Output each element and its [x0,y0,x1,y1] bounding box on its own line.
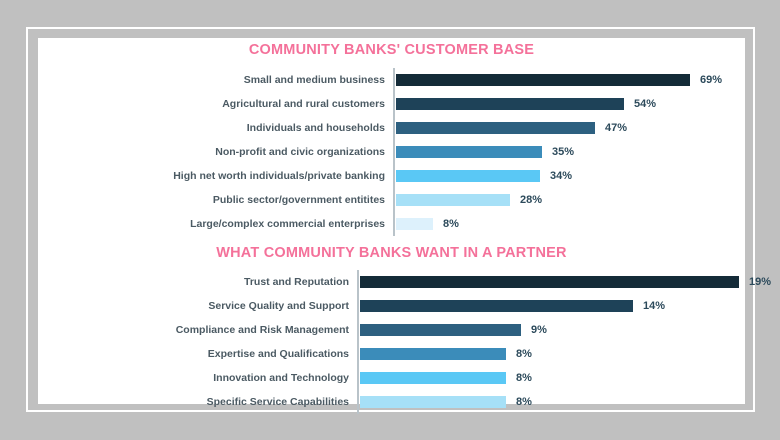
chart-2-bar [360,396,506,408]
chart-2-category-label: Specific Service Capabilities [38,396,357,408]
chart-1-value-label: 8% [443,218,459,230]
chart-2-value-label: 9% [531,324,547,336]
chart-1-bar [396,194,510,206]
chart-1-bar [396,122,595,134]
chart-1-bar [396,170,540,182]
chart-1-category-label: High net worth individuals/private banki… [38,170,393,182]
chart-1-bar [396,218,433,230]
chart-2-value-label: 8% [516,396,532,408]
chart-1-row: Individuals and households47% [38,116,745,140]
chart-1-bar [396,146,542,158]
chart-2-bar [360,276,739,288]
chart-2-bar [360,300,633,312]
chart-1-title: COMMUNITY BANKS' CUSTOMER BASE [38,42,745,58]
chart-1-row: Agricultural and rural customers54% [38,92,745,116]
chart-1-category-label: Public sector/government entitites [38,194,393,206]
chart-1-category-label: Agricultural and rural customers [38,98,393,110]
chart-2-bar [360,348,506,360]
chart-1-category-label: Small and medium business [38,74,393,86]
screenshot-stage: COMMUNITY BANKS' CUSTOMER BASE Small and… [0,0,780,440]
chart-1-value-label: 54% [634,98,656,110]
chart-2-category-label: Service Quality and Support [38,300,357,312]
chart-2-value-label: 14% [643,300,665,312]
chart-2-value-label: 8% [516,372,532,384]
chart-1-customer-base: Small and medium business69%Agricultural… [38,68,745,236]
chart-2-category-label: Compliance and Risk Management [38,324,357,336]
chart-1-value-label: 69% [700,74,722,86]
chart-2-partner-wants: Trust and Reputation19%Service Quality a… [38,270,745,414]
chart-2-bar [360,324,521,336]
chart-2-category-label: Expertise and Qualifications [38,348,357,360]
chart-2-row: Innovation and Technology8% [38,366,745,390]
chart-1-row: Non-profit and civic organizations35% [38,140,745,164]
chart-2-row: Expertise and Qualifications8% [38,342,745,366]
chart-1-row: Large/complex commercial enterprises8% [38,212,745,236]
chart-2-category-label: Trust and Reputation [38,276,357,288]
chart-1-bar [396,98,624,110]
chart-1-category-label: Large/complex commercial enterprises [38,218,393,230]
chart-2-value-label: 19% [749,276,771,288]
chart-2-value-label: 8% [516,348,532,360]
chart-1-row: Small and medium business69% [38,68,745,92]
chart-1-value-label: 28% [520,194,542,206]
chart-1-value-label: 35% [552,146,574,158]
chart-2-row: Specific Service Capabilities8% [38,390,745,414]
chart-1-row: High net worth individuals/private banki… [38,164,745,188]
chart-1-category-label: Individuals and households [38,122,393,134]
chart-1-row: Public sector/government entitites28% [38,188,745,212]
chart-2-title: WHAT COMMUNITY BANKS WANT IN A PARTNER [38,245,745,261]
chart-2-row: Service Quality and Support14% [38,294,745,318]
chart-1-value-label: 47% [605,122,627,134]
chart-2-row: Compliance and Risk Management9% [38,318,745,342]
chart-1-value-label: 34% [550,170,572,182]
chart-2-bar [360,372,506,384]
chart-2-row: Trust and Reputation19% [38,270,745,294]
slide-card: COMMUNITY BANKS' CUSTOMER BASE Small and… [38,38,745,404]
chart-1-bar [396,74,690,86]
chart-2-category-label: Innovation and Technology [38,372,357,384]
chart-1-category-label: Non-profit and civic organizations [38,146,393,158]
